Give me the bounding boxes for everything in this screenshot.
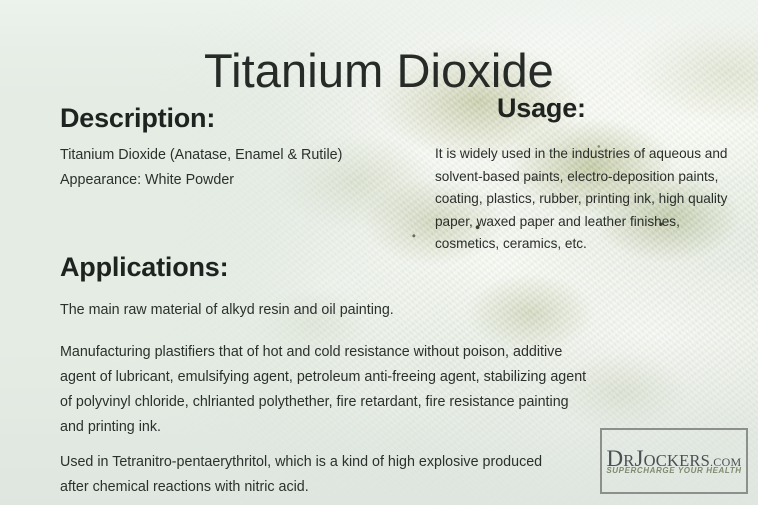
infographic-canvas: Titanium Dioxide Description: Titanium D… xyxy=(0,0,758,505)
description-heading: Description: xyxy=(60,103,215,134)
applications-paragraph-2: Manufacturing plastifiers that of hot an… xyxy=(60,340,590,440)
content-layer: Titanium Dioxide Description: Titanium D… xyxy=(0,0,758,505)
logo-inner: DRJOCKERS.COM SUPERCHARGE YOUR HEALTH xyxy=(606,447,741,475)
description-body: Titanium Dioxide (Anatase, Enamel & Ruti… xyxy=(60,143,460,193)
usage-heading: Usage: xyxy=(497,93,586,124)
logo-tagline: SUPERCHARGE YOUR HEALTH xyxy=(606,466,741,475)
usage-body: It is widely used in the industries of a… xyxy=(435,143,735,256)
applications-paragraph-1: The main raw material of alkyd resin and… xyxy=(60,298,580,323)
drjockers-logo[interactable]: DRJOCKERS.COM SUPERCHARGE YOUR HEALTH xyxy=(600,428,748,494)
applications-heading: Applications: xyxy=(60,252,228,283)
page-title: Titanium Dioxide xyxy=(0,43,758,98)
applications-paragraph-3: Used in Tetranitro-pentaerythritol, whic… xyxy=(60,450,560,500)
